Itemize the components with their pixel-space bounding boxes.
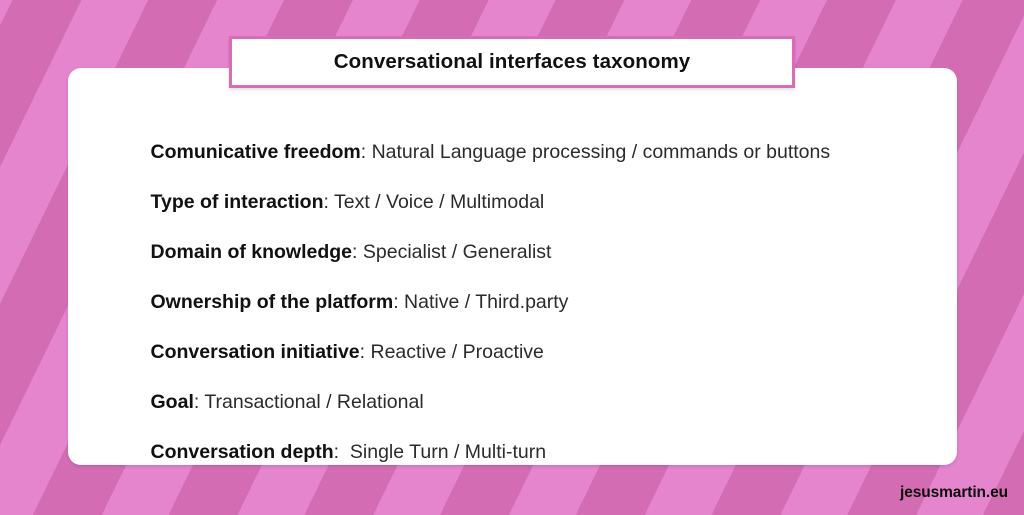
list-item: Ownership of the platform: Native / Thir…	[118, 266, 918, 316]
list-item-value: Single Turn / Multi-turn	[350, 441, 546, 463]
list-item-separator: :	[194, 391, 204, 413]
list-item: Domain of knowledge: Specialist / Genera…	[118, 216, 918, 266]
list-item-label: Conversation initiative	[151, 341, 360, 363]
list-item-label: Comunicative freedom	[151, 141, 361, 163]
list-item-separator: :	[361, 141, 372, 163]
list-item-label: Domain of knowledge	[151, 241, 353, 263]
slide-canvas: Conversational interfaces taxonomy Comun…	[0, 0, 1024, 515]
list-item-value: Native / Third.party	[404, 291, 568, 313]
taxonomy-list: Comunicative freedom: Natural Language p…	[118, 116, 918, 466]
list-item: Conversation initiative: Reactive / Proa…	[118, 316, 918, 366]
list-item-value: Natural Language processing / commands o…	[372, 141, 831, 163]
list-item-label: Ownership of the platform	[151, 291, 394, 313]
list-item-separator: :	[324, 191, 334, 213]
list-item-label: Goal	[151, 391, 194, 413]
title-box: Conversational interfaces taxonomy	[229, 36, 795, 88]
list-item-separator: :	[360, 341, 371, 363]
list-item: Goal: Transactional / Relational	[118, 366, 918, 416]
page-title: Conversational interfaces taxonomy	[334, 50, 691, 74]
list-item-value: Specialist / Generalist	[363, 241, 552, 263]
list-item-separator: :	[334, 441, 350, 463]
list-item: Comunicative freedom: Natural Language p…	[118, 116, 918, 166]
list-item-label: Type of interaction	[151, 191, 324, 213]
list-item: Conversation depth: Single Turn / Multi-…	[118, 416, 918, 466]
list-item-value: Text / Voice / Multimodal	[334, 191, 544, 213]
list-item-separator: :	[352, 241, 363, 263]
brand-watermark: jesusmartin.eu	[900, 484, 1008, 502]
list-item-separator: :	[393, 291, 404, 313]
list-item-value: Reactive / Proactive	[371, 341, 544, 363]
list-item: Type of interaction: Text / Voice / Mult…	[118, 166, 918, 216]
list-item-value: Transactional / Relational	[204, 391, 423, 413]
list-item-label: Conversation depth	[151, 441, 334, 463]
